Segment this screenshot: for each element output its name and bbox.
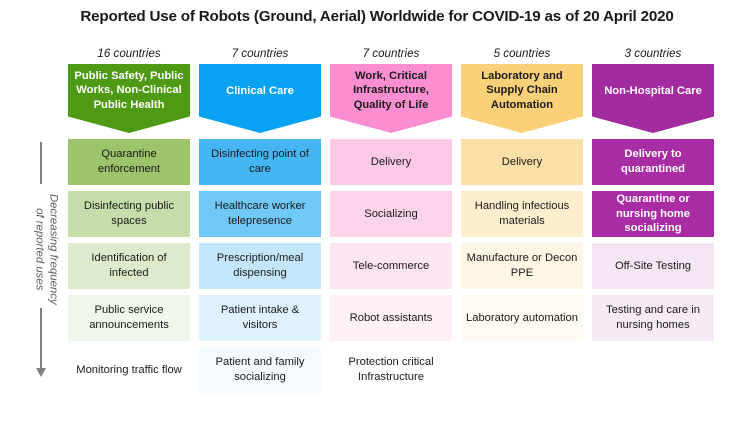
- use-case-label: Protection critical Infrastructure: [334, 355, 448, 384]
- category-column: 7 countriesClinical CareDisinfecting poi…: [199, 46, 321, 399]
- use-case-label: Robot assistants: [350, 311, 433, 326]
- use-case-cell[interactable]: Public service announcements: [68, 295, 190, 341]
- country-count-label: 3 countries: [592, 46, 714, 64]
- use-case-cell[interactable]: Monitoring traffic flow: [68, 347, 190, 393]
- country-count-label: 7 countries: [330, 46, 452, 64]
- use-case-cell[interactable]: Handling infectious materials: [461, 191, 583, 237]
- use-case-cell[interactable]: Disinfecting point of care: [199, 139, 321, 185]
- use-case-label: Delivery: [371, 155, 411, 170]
- down-arrow-icon: [36, 368, 46, 377]
- category-header-chevron[interactable]: Clinical Care: [199, 64, 321, 133]
- category-header-chevron[interactable]: Work, Critical Infrastructure, Quality o…: [330, 64, 452, 133]
- use-case-list: Disinfecting point of careHealthcare wor…: [199, 139, 321, 393]
- use-case-cell[interactable]: Socializing: [330, 191, 452, 237]
- use-case-cell[interactable]: Laboratory automation: [461, 295, 583, 341]
- axis-line-lower-segment: [40, 308, 42, 370]
- use-case-cell[interactable]: Robot assistants: [330, 295, 452, 341]
- use-case-label: Delivery to quarantined: [596, 147, 710, 176]
- page-title: Reported Use of Robots (Ground, Aerial) …: [0, 8, 754, 26]
- use-case-cell[interactable]: Testing and care in nursing homes: [592, 295, 714, 341]
- category-column: 5 countriesLaboratory and Supply Chain A…: [461, 46, 583, 347]
- use-case-list: DeliverySocializingTele-commerceRobot as…: [330, 139, 452, 393]
- use-case-cell[interactable]: Disinfecting public spaces: [68, 191, 190, 237]
- frequency-axis-annotation: Decreasing frequency of reported uses: [18, 140, 64, 385]
- category-column: 3 countriesNon-Hospital CareDelivery to …: [592, 46, 714, 347]
- use-case-cell[interactable]: Quarantine enforcement: [68, 139, 190, 185]
- use-case-cell[interactable]: Patient intake & visitors: [199, 295, 321, 341]
- axis-label-text: Decreasing frequency of reported uses: [32, 164, 61, 334]
- use-case-label: Healthcare worker telepresence: [203, 199, 317, 228]
- use-case-cell[interactable]: Identification of infected: [68, 243, 190, 289]
- category-header-chevron[interactable]: Non-Hospital Care: [592, 64, 714, 133]
- category-header-chevron[interactable]: Laboratory and Supply Chain Automation: [461, 64, 583, 133]
- use-case-label: Monitoring traffic flow: [76, 363, 182, 378]
- category-columns: 16 countriesPublic Safety, Public Works,…: [68, 46, 748, 386]
- use-case-label: Prescription/meal dispensing: [203, 251, 317, 280]
- use-case-label: Testing and care in nursing homes: [596, 303, 710, 332]
- country-count-label: 16 countries: [68, 46, 190, 64]
- use-case-label: Patient and family socializing: [203, 355, 317, 384]
- category-header-label: Clinical Care: [221, 84, 299, 98]
- robot-use-diagram: Reported Use of Robots (Ground, Aerial) …: [0, 0, 754, 424]
- use-case-label: Tele-commerce: [353, 259, 429, 274]
- use-case-label: Disinfecting point of care: [203, 147, 317, 176]
- use-case-list: Quarantine enforcementDisinfecting publi…: [68, 139, 190, 393]
- category-header-label: Work, Critical Infrastructure, Quality o…: [330, 69, 452, 112]
- use-case-cell[interactable]: Delivery to quarantined: [592, 139, 714, 185]
- use-case-cell[interactable]: Tele-commerce: [330, 243, 452, 289]
- use-case-label: Quarantine enforcement: [72, 147, 186, 176]
- category-column: 16 countriesPublic Safety, Public Works,…: [68, 46, 190, 399]
- use-case-label: Patient intake & visitors: [203, 303, 317, 332]
- use-case-label: Manufacture or Decon PPE: [465, 251, 579, 280]
- category-header-chevron[interactable]: Public Safety, Public Works, Non-Clinica…: [68, 64, 190, 133]
- category-header-label: Non-Hospital Care: [599, 84, 707, 98]
- category-header-label: Laboratory and Supply Chain Automation: [461, 69, 583, 112]
- use-case-label: Identification of infected: [72, 251, 186, 280]
- use-case-label: Handling infectious materials: [465, 199, 579, 228]
- use-case-list: DeliveryHandling infectious materialsMan…: [461, 139, 583, 341]
- use-case-label: Socializing: [364, 207, 417, 222]
- country-count-label: 7 countries: [199, 46, 321, 64]
- use-case-cell[interactable]: Prescription/meal dispensing: [199, 243, 321, 289]
- use-case-cell[interactable]: Patient and family socializing: [199, 347, 321, 393]
- use-case-cell[interactable]: Off-Site Testing: [592, 243, 714, 289]
- use-case-cell[interactable]: Quarantine or nursing home socializing: [592, 191, 714, 237]
- use-case-cell[interactable]: Healthcare worker telepresence: [199, 191, 321, 237]
- use-case-label: Off-Site Testing: [615, 259, 691, 274]
- use-case-cell[interactable]: Protection critical Infrastructure: [330, 347, 452, 393]
- use-case-label: Delivery: [502, 155, 542, 170]
- use-case-label: Quarantine or nursing home socializing: [596, 192, 710, 236]
- use-case-list: Delivery to quarantinedQuarantine or nur…: [592, 139, 714, 341]
- use-case-cell[interactable]: Manufacture or Decon PPE: [461, 243, 583, 289]
- use-case-label: Laboratory automation: [466, 311, 578, 326]
- category-column: 7 countriesWork, Critical Infrastructure…: [330, 46, 452, 399]
- use-case-cell[interactable]: Delivery: [461, 139, 583, 185]
- use-case-label: Disinfecting public spaces: [72, 199, 186, 228]
- country-count-label: 5 countries: [461, 46, 583, 64]
- use-case-label: Public service announcements: [72, 303, 186, 332]
- use-case-cell[interactable]: Delivery: [330, 139, 452, 185]
- category-header-label: Public Safety, Public Works, Non-Clinica…: [68, 69, 190, 112]
